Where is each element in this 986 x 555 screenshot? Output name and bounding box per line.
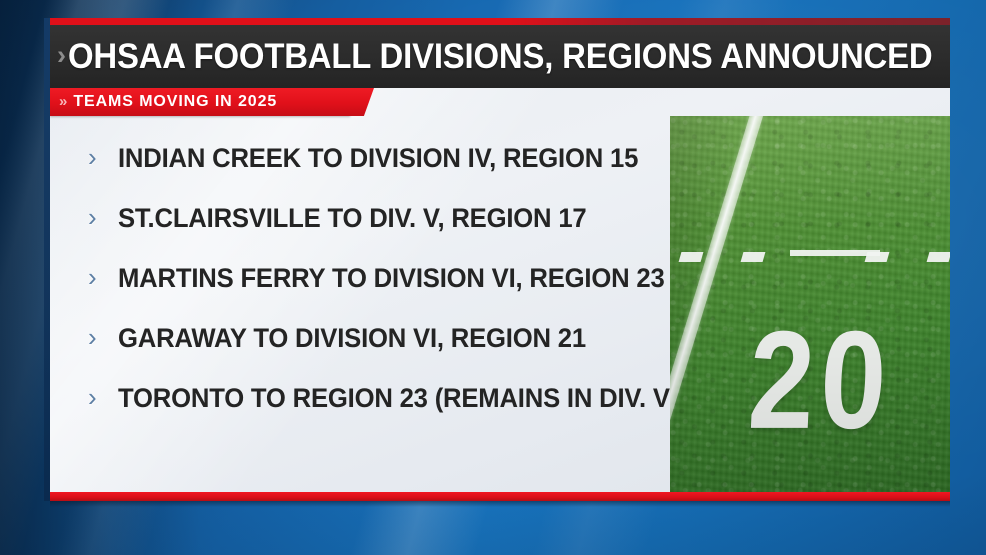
chevron-right-icon: › bbox=[88, 264, 118, 290]
page-title: OHSAA FOOTBALL DIVISIONS, REGIONS ANNOUN… bbox=[68, 37, 932, 77]
subhead-banner-angled-tail bbox=[350, 88, 374, 116]
top-red-accent-bar bbox=[50, 18, 950, 25]
chevron-right-icon: › bbox=[88, 144, 118, 170]
bottom-red-accent-bar bbox=[50, 492, 950, 501]
chevron-right-icon: › bbox=[57, 42, 66, 69]
list-item-label: MARTINS FERRY TO DIVISION VI, REGION 23 bbox=[118, 263, 665, 294]
subhead-banner: » TEAMS MOVING IN 2025 bbox=[50, 88, 350, 116]
subhead-label: TEAMS MOVING IN 2025 bbox=[73, 93, 277, 111]
football-field-image: 20 bbox=[670, 116, 950, 492]
list-item: › INDIAN CREEK TO DIVISION IV, REGION 15 bbox=[50, 128, 670, 188]
list-item: › GARAWAY TO DIVISION VI, REGION 21 bbox=[50, 308, 670, 368]
list-item: › ST.CLAIRSVILLE TO DIV. V, REGION 17 bbox=[50, 188, 670, 248]
list-item-label: INDIAN CREEK TO DIVISION IV, REGION 15 bbox=[118, 143, 638, 174]
bottom-accent-shadow bbox=[50, 501, 950, 507]
list-item: › MARTINS FERRY TO DIVISION VI, REGION 2… bbox=[50, 248, 670, 308]
double-chevron-right-icon: » bbox=[59, 94, 67, 109]
list-item: › TORONTO TO REGION 23 (REMAINS IN DIV. … bbox=[50, 368, 670, 428]
headline-bar: › OHSAA FOOTBALL DIVISIONS, REGIONS ANNO… bbox=[50, 25, 950, 88]
chevron-right-icon: › bbox=[88, 324, 118, 350]
chevron-right-icon: › bbox=[88, 384, 118, 410]
list-item-label: ST.CLAIRSVILLE TO DIV. V, REGION 17 bbox=[118, 203, 586, 234]
list-item-label: TORONTO TO REGION 23 (REMAINS IN DIV. VI… bbox=[118, 383, 685, 414]
top-red-accent-fade bbox=[510, 18, 950, 25]
content-panel: » TEAMS MOVING IN 2025 › INDIAN CREEK TO… bbox=[50, 88, 950, 492]
list-item-label: GARAWAY TO DIVISION VI, REGION 21 bbox=[118, 323, 586, 354]
chevron-right-icon: › bbox=[88, 204, 118, 230]
bullet-list: › INDIAN CREEK TO DIVISION IV, REGION 15… bbox=[50, 128, 670, 428]
lower-third-graphic: › OHSAA FOOTBALL DIVISIONS, REGIONS ANNO… bbox=[50, 18, 950, 501]
field-shading-overlay bbox=[670, 116, 950, 492]
